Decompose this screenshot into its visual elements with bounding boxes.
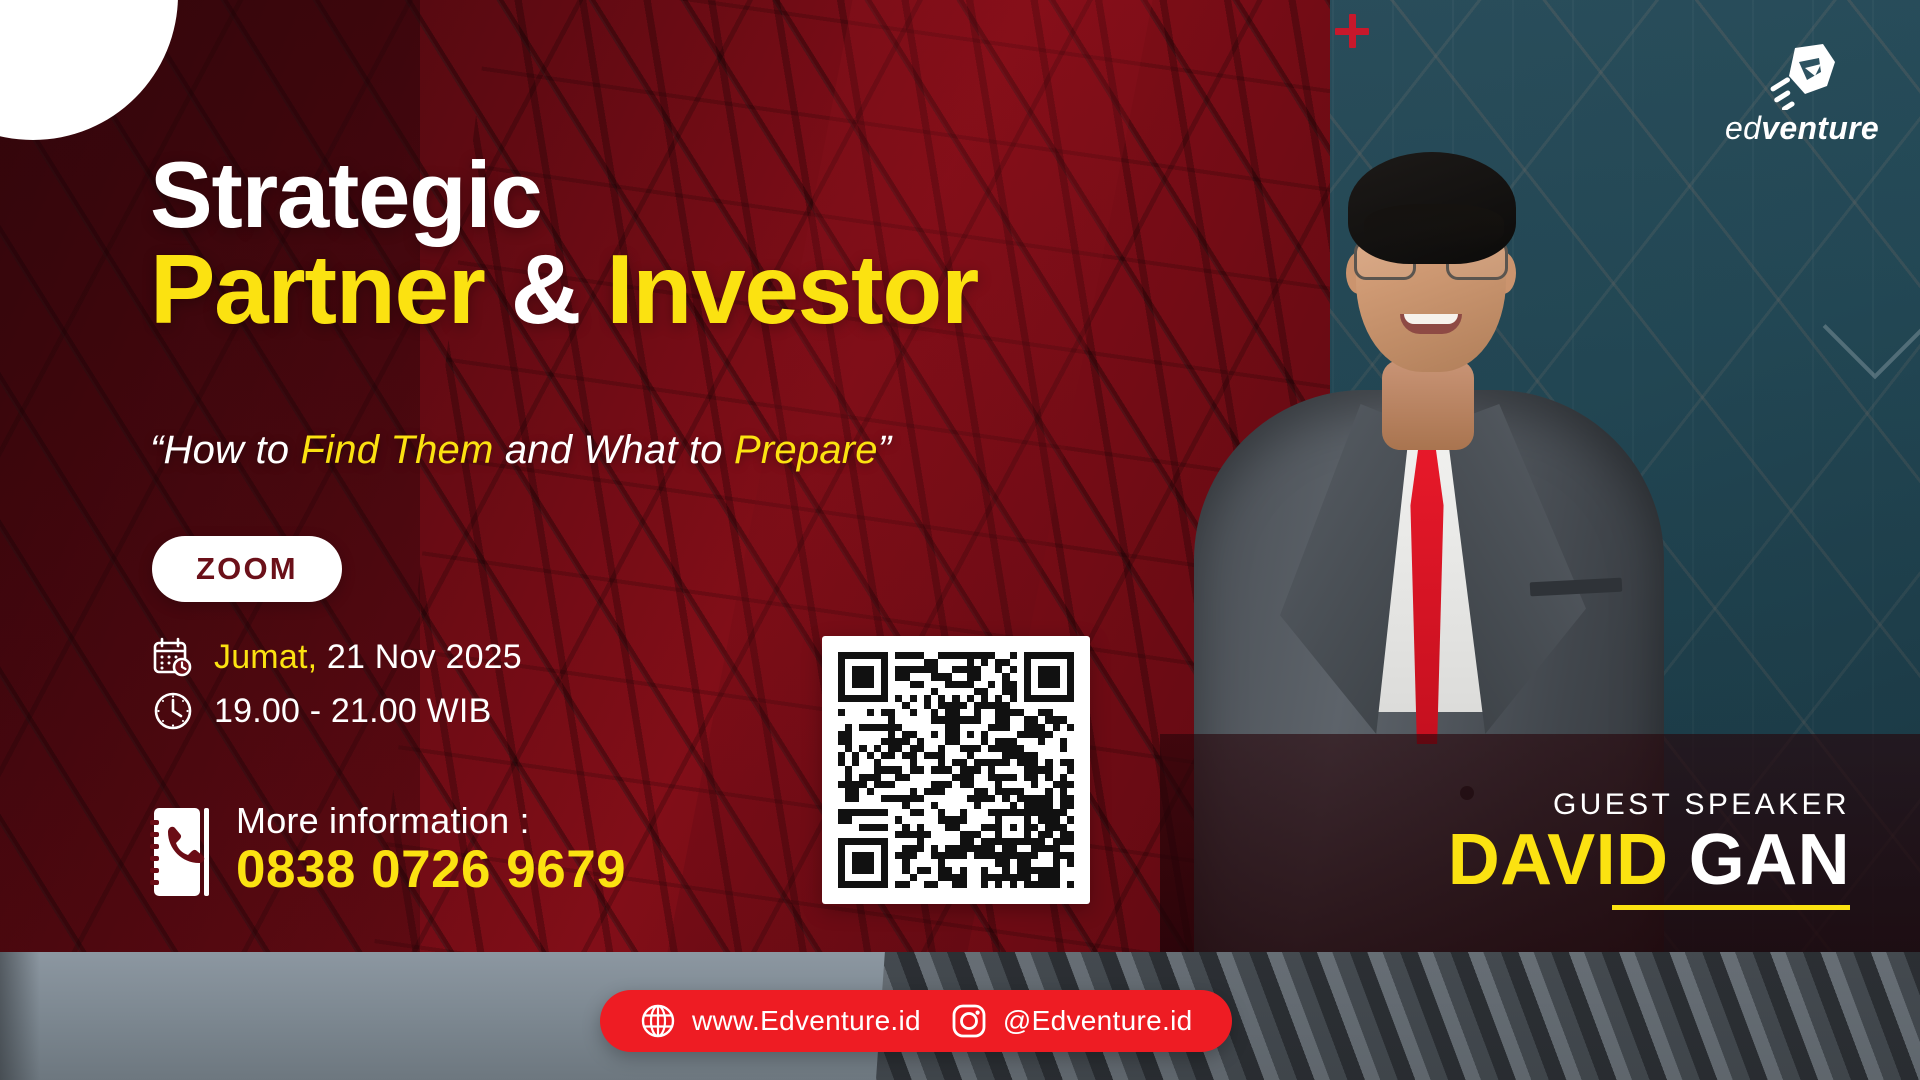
headline-block: Strategic Partner & Investor xyxy=(150,148,1210,338)
subtitle-open: “How to xyxy=(150,428,301,472)
subtitle-highlight-1: Find Them xyxy=(301,428,494,472)
footer-contact-bar: www.Edventure.id @Edventure.id xyxy=(600,990,1232,1052)
headline-ampersand: & xyxy=(511,234,607,344)
clock-icon xyxy=(152,690,194,732)
footer-website-item[interactable]: www.Edventure.id xyxy=(640,1003,921,1039)
contact-texts: More information : 0838 0726 9679 xyxy=(236,800,626,898)
speaker-first-name: DAVID xyxy=(1448,820,1669,900)
edventure-wordmark: edventure xyxy=(1702,112,1902,144)
event-time-text: 19.00 - 21.00 WIB xyxy=(214,692,491,731)
guest-speaker-block: GUEST SPEAKER DAVID GAN xyxy=(1290,788,1850,910)
logo-text-venture: venture xyxy=(1761,110,1879,146)
headline-line-2: Partner & Investor xyxy=(150,241,1210,338)
headline-line-1: Strategic xyxy=(150,148,1210,241)
globe-icon xyxy=(640,1003,676,1039)
guest-speaker-name: DAVID GAN xyxy=(1290,824,1850,897)
registration-qr-code[interactable] xyxy=(822,636,1090,904)
speaker-last-name: GAN xyxy=(1689,820,1850,900)
plus-decoration-icon xyxy=(1335,14,1369,48)
platform-badge-zoom[interactable]: ZOOM xyxy=(152,536,342,602)
footer-website-text: www.Edventure.id xyxy=(692,1005,921,1037)
phone-book-icon xyxy=(148,806,214,898)
event-date-text: Jumat, 21 Nov 2025 xyxy=(214,638,522,677)
subtitle-middle: and What to xyxy=(494,428,735,472)
subtitle-close: ” xyxy=(878,428,892,472)
subtitle-highlight-2: Prepare xyxy=(734,428,878,472)
event-promo-banner: edventure Strategic Partner & Investor “… xyxy=(0,0,1920,1080)
event-meta-block: Jumat, 21 Nov 2025 19.00 - 21.00 WIB xyxy=(152,636,522,744)
event-date-row: Jumat, 21 Nov 2025 xyxy=(152,636,522,678)
headline-partner: Partner xyxy=(150,234,511,344)
calendar-clock-icon xyxy=(152,636,194,678)
instagram-icon xyxy=(951,1003,987,1039)
speaker-hair xyxy=(1348,152,1516,264)
speaker-name-underline xyxy=(1612,905,1850,910)
bottom-strip-shadow xyxy=(0,952,40,1080)
contact-phone-number[interactable]: 0838 0726 9679 xyxy=(236,840,626,899)
contact-label: More information : xyxy=(236,800,530,841)
footer-instagram-text: @Edventure.id xyxy=(1003,1005,1193,1037)
edventure-rocket-icon xyxy=(1765,42,1839,110)
event-date-day: Jumat, xyxy=(214,638,317,676)
logo-text-ed: ed xyxy=(1725,110,1761,146)
qr-modules xyxy=(838,652,1074,888)
headline-investor: Investor xyxy=(606,234,978,344)
event-date-rest: 21 Nov 2025 xyxy=(317,638,522,676)
speaker-neck xyxy=(1382,360,1474,450)
contact-block: More information : 0838 0726 9679 xyxy=(148,800,626,898)
footer-instagram-item[interactable]: @Edventure.id xyxy=(951,1003,1193,1039)
guest-speaker-label: GUEST SPEAKER xyxy=(1290,788,1850,822)
event-time-row: 19.00 - 21.00 WIB xyxy=(152,690,522,732)
subtitle-quote: “How to Find Them and What to Prepare” xyxy=(150,428,1270,473)
edventure-logo[interactable]: edventure xyxy=(1702,42,1902,144)
